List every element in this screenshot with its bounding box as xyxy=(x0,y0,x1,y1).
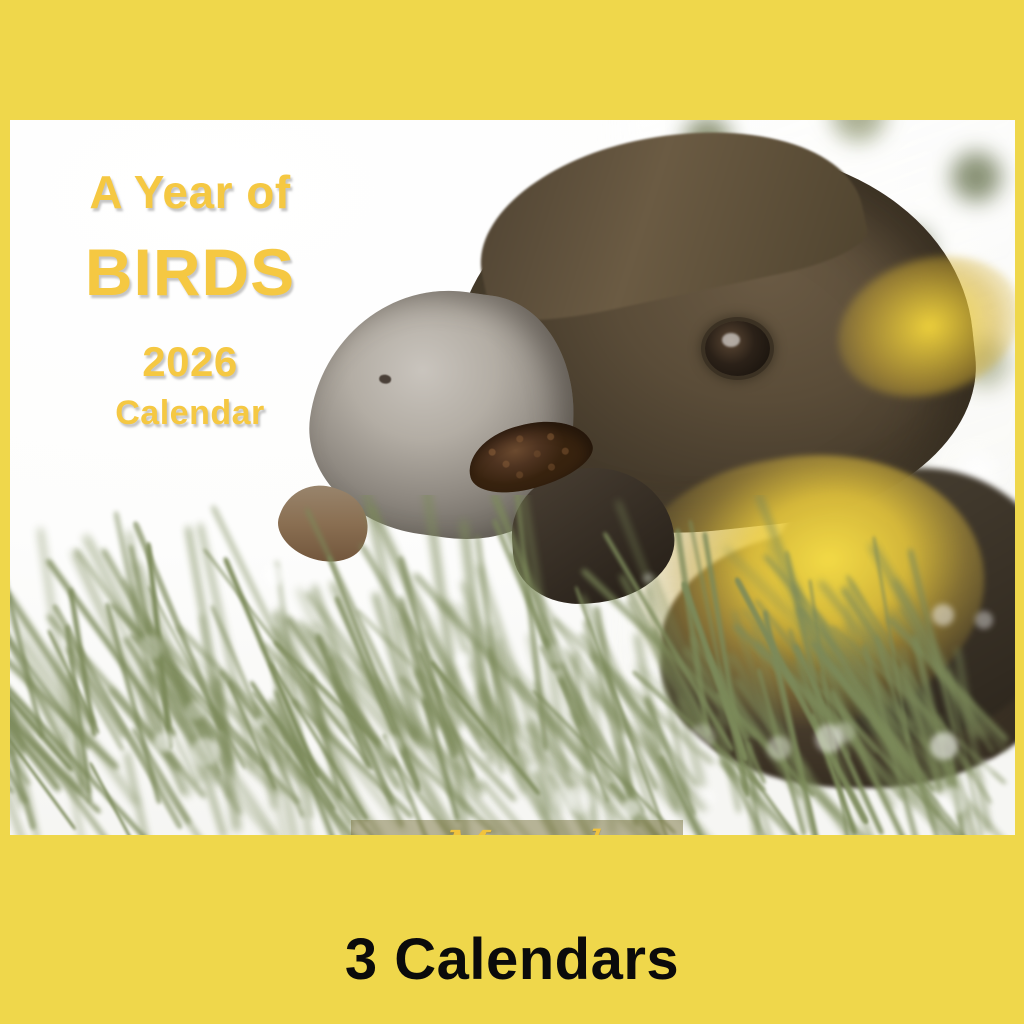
dew-drop-bokeh xyxy=(932,604,954,626)
cover-photograph: Merryl Watkins PHOTOGRAPHY xyxy=(10,120,1015,835)
watermark-signature: Merryl Watkins xyxy=(351,822,683,835)
dew-drop-bokeh xyxy=(815,724,843,752)
cockatoo-eye xyxy=(705,321,770,376)
dew-drop-bokeh xyxy=(90,792,101,803)
photographer-watermark: Merryl Watkins PHOTOGRAPHY xyxy=(351,820,683,835)
product-image-card: Merryl Watkins PHOTOGRAPHY A Year of BIR… xyxy=(0,0,1024,1024)
dew-drop-bokeh xyxy=(697,788,716,807)
dew-drop-bokeh xyxy=(689,724,715,750)
dew-drop-bokeh xyxy=(191,738,219,766)
dew-drop-bokeh xyxy=(186,701,205,720)
dew-drop-bokeh xyxy=(264,565,284,585)
dew-drop-bokeh xyxy=(622,799,641,818)
dew-drop-bokeh xyxy=(767,736,791,760)
product-caption: 3 Calendars xyxy=(0,835,1024,1024)
dew-drop-bokeh xyxy=(528,763,538,773)
dew-drop-bokeh xyxy=(456,652,470,666)
sheoak-needle-foliage xyxy=(10,495,1015,835)
dew-drop-bokeh xyxy=(975,611,993,629)
dew-drop-bokeh xyxy=(154,732,175,753)
dew-drop-bokeh xyxy=(941,787,968,814)
dew-drop-bokeh xyxy=(979,759,995,775)
dew-drop-bokeh xyxy=(381,735,403,757)
caption-text: 3 Calendars xyxy=(345,926,679,993)
dew-drop-bokeh xyxy=(553,787,578,812)
cockatoo-nostril xyxy=(379,374,392,384)
dew-drop-bokeh xyxy=(643,573,653,583)
